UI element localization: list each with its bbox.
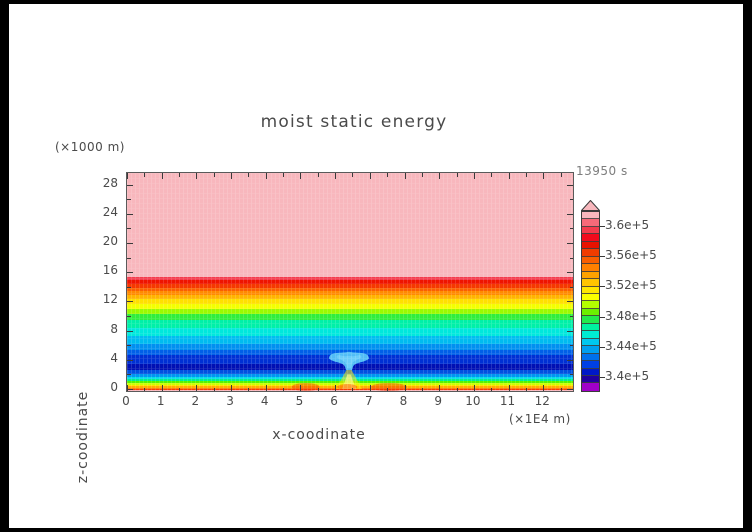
major-tick	[300, 385, 301, 391]
minor-tick	[283, 388, 284, 392]
minor-tick	[570, 345, 574, 346]
x-tick-label: 11	[496, 394, 520, 408]
colorbar-segment	[582, 272, 599, 279]
major-tick	[231, 385, 232, 391]
y-tick-label: 0	[92, 380, 118, 394]
minor-tick	[526, 173, 527, 177]
minor-tick	[422, 173, 423, 177]
colorbar-segment	[582, 383, 599, 390]
minor-tick	[248, 388, 249, 392]
x-axis-unit-label: (×1E4 m)	[509, 412, 571, 426]
y-axis-unit-label: (×1000 m)	[55, 140, 125, 154]
colorbar-tick-mark	[600, 317, 605, 318]
major-tick	[335, 173, 336, 179]
x-tick-label: 4	[253, 394, 277, 408]
contour-band	[127, 355, 573, 364]
minor-tick	[283, 173, 284, 177]
colorbar-segment	[582, 324, 599, 331]
x-tick-label: 12	[530, 394, 554, 408]
minor-tick	[422, 388, 423, 392]
colorbar-tick-label: 3.6e+5	[605, 218, 649, 232]
minor-tick	[127, 345, 131, 346]
major-tick	[567, 185, 573, 186]
minor-tick	[491, 388, 492, 392]
major-tick	[127, 272, 133, 273]
minor-tick	[144, 388, 145, 392]
colorbar-tick-mark	[600, 347, 605, 348]
major-tick	[509, 385, 510, 391]
minor-tick	[387, 173, 388, 177]
x-tick-label: 1	[149, 394, 173, 408]
colorbar-tick-label: 3.52e+5	[605, 278, 657, 292]
contour-band	[127, 328, 573, 336]
major-tick	[567, 389, 573, 390]
minor-tick	[318, 173, 319, 177]
minor-tick	[526, 388, 527, 392]
minor-tick	[127, 228, 131, 229]
major-tick	[543, 173, 544, 179]
major-tick	[162, 173, 163, 179]
minor-tick	[457, 173, 458, 177]
colorbar-tick-mark	[600, 226, 605, 227]
minor-tick	[214, 173, 215, 177]
x-tick-label: 10	[461, 394, 485, 408]
major-tick	[266, 385, 267, 391]
minor-tick	[127, 258, 131, 259]
timestamp-label: 13950 s	[576, 164, 628, 178]
major-tick	[127, 389, 133, 390]
colorbar-tick-label: 3.48e+5	[605, 309, 657, 323]
minor-tick	[491, 173, 492, 177]
major-tick	[127, 214, 133, 215]
contour-plot-area[interactable]	[126, 172, 574, 392]
x-tick-label: 7	[357, 394, 381, 408]
colorbar-segment	[582, 212, 599, 219]
major-tick	[567, 272, 573, 273]
colorbar-segment	[582, 354, 599, 361]
major-tick	[231, 173, 232, 179]
minor-tick	[570, 199, 574, 200]
colorbar-segment	[582, 376, 599, 383]
major-tick	[567, 301, 573, 302]
major-tick	[405, 173, 406, 179]
colorbar-segment	[582, 301, 599, 308]
colorbar-segment	[582, 249, 599, 256]
y-tick-label: 24	[92, 205, 118, 219]
x-tick-label: 8	[392, 394, 416, 408]
minor-tick	[387, 388, 388, 392]
colorbar-segment	[582, 264, 599, 271]
minor-tick	[144, 173, 145, 177]
figure-canvas: moist static energy (×1000 m) 13950 s z-…	[9, 4, 743, 528]
major-tick	[567, 331, 573, 332]
colorbar-segment	[582, 361, 599, 368]
major-tick	[300, 173, 301, 179]
major-tick	[127, 301, 133, 302]
major-tick	[196, 385, 197, 391]
major-tick	[567, 214, 573, 215]
x-tick-label: 3	[218, 394, 242, 408]
major-tick	[567, 360, 573, 361]
colorbar-tick-mark	[600, 286, 605, 287]
major-tick	[127, 173, 128, 179]
colorbar-segment	[582, 234, 599, 241]
major-tick	[567, 243, 573, 244]
major-tick	[127, 185, 133, 186]
colorbar-tick-mark	[600, 256, 605, 257]
colorbar-tick-label: 3.56e+5	[605, 248, 657, 262]
major-tick	[509, 173, 510, 179]
major-tick	[474, 173, 475, 179]
colorbar-segment	[582, 316, 599, 323]
minor-tick	[570, 258, 574, 259]
x-tick-label: 6	[322, 394, 346, 408]
x-tick-label: 9	[426, 394, 450, 408]
minor-tick	[570, 228, 574, 229]
minor-tick	[127, 287, 131, 288]
y-tick-label: 4	[92, 351, 118, 365]
major-tick	[162, 385, 163, 391]
major-tick	[335, 385, 336, 391]
contour-band	[127, 320, 573, 328]
minor-tick	[561, 173, 562, 177]
colorbar-segment	[582, 339, 599, 346]
contour-band	[127, 389, 573, 390]
minor-tick	[561, 388, 562, 392]
colorbar-segment	[582, 219, 599, 226]
minor-tick	[248, 173, 249, 177]
colorbar[interactable]: 3.6e+53.56e+53.52e+53.48e+53.44e+53.4e+5	[581, 200, 600, 392]
major-tick	[543, 385, 544, 391]
contour-band	[127, 336, 573, 343]
x-axis-title: x-coodinate	[229, 427, 409, 443]
x-tick-label: 2	[183, 394, 207, 408]
colorbar-arrow-outline	[581, 200, 600, 211]
colorbar-segment	[582, 309, 599, 316]
major-tick	[127, 385, 128, 391]
x-tick-label: 0	[114, 394, 138, 408]
colorbar-gradient	[581, 211, 600, 392]
minor-tick	[352, 173, 353, 177]
minor-tick	[127, 374, 131, 375]
major-tick	[439, 173, 440, 179]
minor-tick	[127, 316, 131, 317]
minor-tick	[352, 388, 353, 392]
major-tick	[127, 360, 133, 361]
minor-tick	[179, 388, 180, 392]
colorbar-segment	[582, 346, 599, 353]
minor-tick	[179, 173, 180, 177]
colorbar-tick-mark	[600, 377, 605, 378]
y-tick-label: 12	[92, 292, 118, 306]
major-tick	[370, 385, 371, 391]
page-title: moist static energy	[189, 112, 519, 132]
minor-tick	[214, 388, 215, 392]
colorbar-segment	[582, 227, 599, 234]
colorbar-segment	[582, 369, 599, 376]
minor-tick	[457, 388, 458, 392]
y-tick-label: 16	[92, 263, 118, 277]
minor-tick	[318, 388, 319, 392]
major-tick	[127, 243, 133, 244]
major-tick	[474, 385, 475, 391]
x-tick-label: 5	[287, 394, 311, 408]
major-tick	[127, 331, 133, 332]
colorbar-segment	[582, 242, 599, 249]
colorbar-segment	[582, 257, 599, 264]
major-tick	[405, 385, 406, 391]
colorbar-tick-label: 3.44e+5	[605, 339, 657, 353]
colorbar-segment	[582, 331, 599, 338]
minor-tick	[127, 199, 131, 200]
image-border: moist static energy (×1000 m) 13950 s z-…	[0, 0, 752, 532]
y-tick-label: 20	[92, 234, 118, 248]
minor-tick	[570, 316, 574, 317]
major-tick	[439, 385, 440, 391]
colorbar-segment	[582, 294, 599, 301]
contour-band	[127, 173, 573, 277]
colorbar-segment	[582, 287, 599, 294]
y-tick-label: 8	[92, 322, 118, 336]
contour-bands	[127, 173, 573, 391]
major-tick	[196, 173, 197, 179]
minor-tick	[570, 374, 574, 375]
colorbar-segment	[582, 279, 599, 286]
colorbar-tick-label: 3.4e+5	[605, 369, 649, 383]
minor-tick	[570, 287, 574, 288]
major-tick	[266, 173, 267, 179]
y-axis-title: z-coodinate	[75, 367, 91, 507]
y-tick-label: 28	[92, 176, 118, 190]
major-tick	[370, 173, 371, 179]
